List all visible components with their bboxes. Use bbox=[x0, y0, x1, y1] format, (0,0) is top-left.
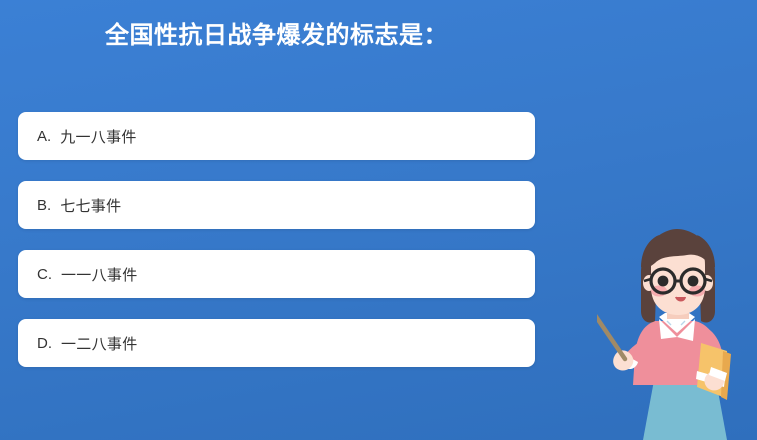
option-card-d[interactable]: D. 一二八事件 bbox=[18, 319, 535, 367]
option-letter-d: D. bbox=[37, 335, 52, 352]
option-card-c[interactable]: C. 一一八事件 bbox=[18, 250, 535, 298]
option-card-a[interactable]: A. 九一八事件 bbox=[18, 112, 535, 160]
page-title: 全国性抗日战争爆发的标志是： bbox=[18, 22, 535, 51]
option-letter-a: A. bbox=[37, 128, 51, 145]
option-content-c: C. 一一八事件 bbox=[37, 250, 138, 298]
teacher-illustration-icon bbox=[597, 225, 757, 440]
option-text-d: 一二八事件 bbox=[61, 333, 138, 354]
quiz-screen: 全国性抗日战争爆发的标志是： A. 九一八事件 B. 七七事件 C. 一一八事件… bbox=[0, 0, 757, 440]
options-list: A. 九一八事件 B. 七七事件 C. 一一八事件 D. 一二八事件 bbox=[18, 112, 535, 388]
option-content-d: D. 一二八事件 bbox=[37, 319, 138, 367]
option-text-c: 一一八事件 bbox=[61, 264, 138, 285]
option-letter-c: C. bbox=[37, 266, 52, 283]
option-text-b: 七七事件 bbox=[60, 195, 121, 216]
option-content-a: A. 九一八事件 bbox=[37, 112, 137, 160]
option-text-a: 九一八事件 bbox=[60, 126, 137, 147]
option-content-b: B. 七七事件 bbox=[37, 181, 121, 229]
option-letter-b: B. bbox=[37, 197, 51, 214]
option-card-b[interactable]: B. 七七事件 bbox=[18, 181, 535, 229]
